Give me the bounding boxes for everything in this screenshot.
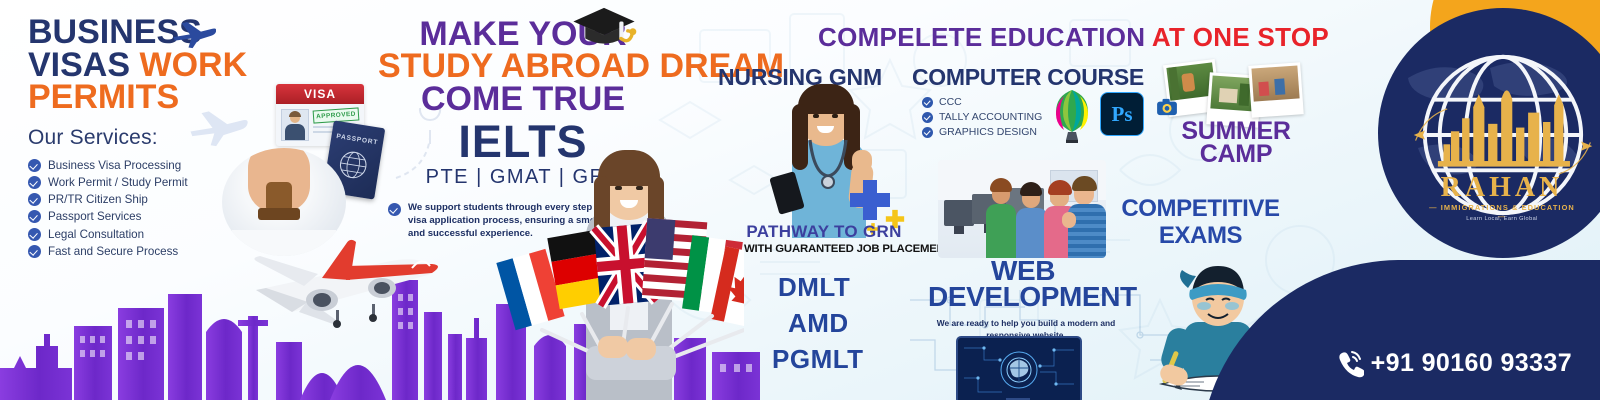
competitive-exams-title: COMPETITIVE EXAMS: [1108, 196, 1293, 250]
graduation-cap-icon: [570, 2, 638, 58]
education-headline-main: COMPELETE EDUCATION: [818, 22, 1152, 52]
photoshop-ps-icon: Ps: [1100, 92, 1144, 136]
center-line3: COME TRUE: [378, 83, 668, 115]
check-icon: [388, 203, 401, 216]
phone-ringing-icon: [1336, 350, 1364, 378]
service-label: Passport Services: [48, 210, 141, 223]
summer-camp-line2: CAMP: [1166, 143, 1306, 166]
passport-label: PASSPORT: [331, 132, 383, 147]
ai-monitor-graphic: [956, 336, 1082, 400]
computer-course-list: CCC TALLY ACCOUNTING GRAPHICS DESIGN: [922, 96, 1042, 141]
course-item-label: GRAPHICS DESIGN: [939, 126, 1037, 138]
contact-phone[interactable]: +91 90160 93337: [1336, 349, 1572, 378]
check-icon: [28, 228, 41, 241]
list-item: CCC: [922, 96, 1042, 108]
photoshop-label: Ps: [1112, 102, 1133, 127]
headline-visas-work: VISAS WORK: [28, 49, 358, 82]
globe-icon: [336, 148, 370, 182]
check-icon: [28, 210, 41, 223]
check-icon: [28, 193, 41, 206]
nursing-title: NURSING GNM: [718, 64, 882, 91]
competitive-line1: COMPETITIVE: [1108, 196, 1293, 223]
airplane-icon-faint: [186, 104, 250, 148]
service-label: Work Permit / Study Permit: [48, 176, 188, 189]
check-icon: [28, 176, 41, 189]
check-icon: [28, 159, 41, 172]
computer-course-title: COMPUTER COURSE: [912, 64, 1144, 91]
check-icon: [922, 97, 933, 108]
course-amd: AMD: [788, 308, 849, 339]
camp-photo-3: [1248, 62, 1304, 118]
logo-tagline: Learn Local, Earn Global: [1426, 216, 1578, 222]
service-label: Business Visa Processing: [48, 159, 181, 172]
phone-number: +91 90160 93337: [1371, 349, 1572, 378]
service-label: Fast and Secure Process: [48, 245, 178, 258]
pathway-subtitle: WITH GUARANTEED JOB PLACEMENT: [744, 243, 904, 255]
check-icon: [28, 245, 41, 258]
pathway-block: PATHWAY TO GRN WITH GUARANTEED JOB PLACE…: [744, 222, 904, 255]
check-icon: [922, 127, 933, 138]
promotional-banner: BUSINESS VISAS WORK PERMITS Our Services…: [0, 0, 1600, 400]
education-headline-accent: AT ONE STOP: [1152, 22, 1329, 52]
course-item-label: TALLY ACCOUNTING: [939, 111, 1042, 123]
camera-icon: [1156, 98, 1178, 116]
computer-lab-photo: [938, 160, 1106, 258]
competitive-line2: EXAMS: [1108, 223, 1293, 250]
course-item-label: CCC: [939, 96, 962, 108]
logo-brand-name: RAHAN: [1426, 172, 1578, 204]
web-development-title: WEB DEVELOPMENT: [928, 258, 1118, 310]
education-headline: COMPELETE EDUCATION AT ONE STOP: [818, 22, 1329, 53]
service-label: PR/TR Citizen Ship: [48, 193, 148, 206]
course-pgmlt: PGMLT: [772, 344, 864, 375]
list-item: TALLY ACCOUNTING: [922, 111, 1042, 123]
coreldraw-balloon-icon: [1052, 88, 1092, 144]
pathway-title: PATHWAY TO GRN: [744, 222, 904, 242]
student-with-flags-photo: [494, 150, 744, 400]
visa-photo-placeholder: [281, 109, 309, 141]
web-title-line2: DEVELOPMENT: [928, 284, 1118, 310]
summer-camp-title: SUMMER CAMP: [1166, 120, 1306, 166]
visa-card-header: VISA: [276, 84, 364, 104]
airplane-icon: [172, 16, 216, 50]
course-dmlt: DMLT: [778, 272, 850, 303]
service-label: Legal Consultation: [48, 228, 144, 241]
check-icon: [922, 112, 933, 123]
list-item: GRAPHICS DESIGN: [922, 126, 1042, 138]
